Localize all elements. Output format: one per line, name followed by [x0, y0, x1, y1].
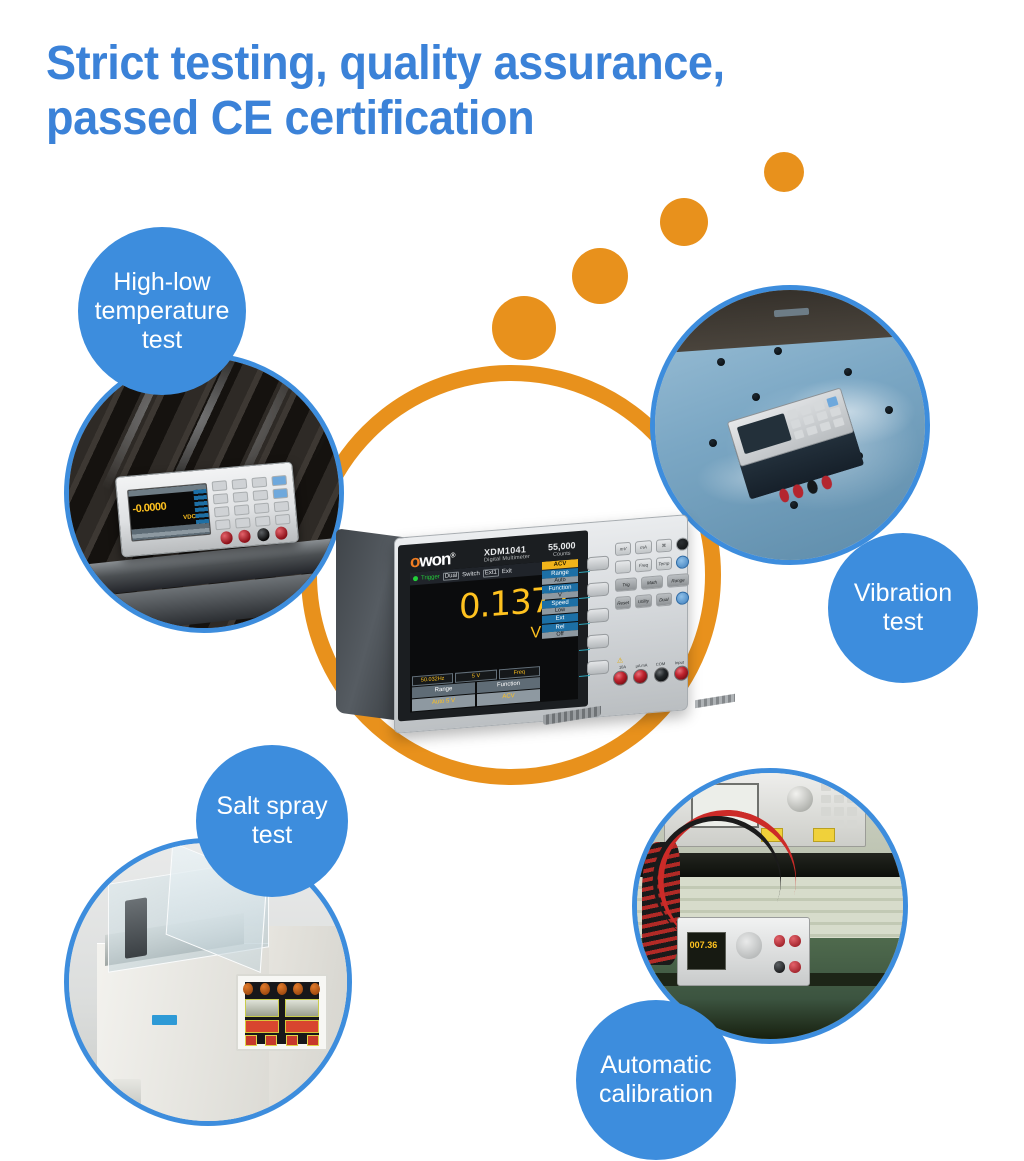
key-freq[interactable]: Freq [635, 558, 651, 572]
lcd-chip-switch[interactable]: Switch [462, 570, 480, 577]
device-keypad[interactable]: mV mA ⌘ Freq Temp Trig Math Range [615, 537, 689, 655]
model-name: XDM1041 Digital Multimeter [484, 544, 530, 564]
key-trig[interactable]: Trig [615, 577, 637, 592]
key-continuity[interactable]: ⌘ [656, 538, 672, 552]
display-bezel: oowonwon® XDM1041 Digital Multimeter 55,… [398, 530, 588, 721]
lcd-menu-rel[interactable]: Rel Off [542, 622, 578, 639]
key-mv[interactable]: mV [615, 542, 631, 556]
key-temp[interactable]: Temp [656, 556, 672, 570]
soft-key-1[interactable] [587, 556, 609, 572]
device-front-panel: oowonwon® XDM1041 Digital Multimeter 55,… [394, 514, 688, 734]
decor-dot-1 [764, 152, 804, 192]
calibration-device-under-test: 007.36 [677, 917, 810, 986]
badge-label: High-low temperature test [95, 268, 230, 355]
chassis-foot [695, 694, 735, 708]
trigger-indicator-dot [413, 576, 418, 581]
photo-vibration-table [650, 285, 930, 565]
key-ma[interactable]: mA [635, 540, 651, 554]
mini-lcd-unit: VDC [183, 513, 196, 520]
key-range[interactable]: Range [667, 573, 689, 588]
keypad-row-2: Freq Temp [615, 555, 689, 574]
jack-com[interactable] [654, 667, 669, 683]
product-multimeter-xdm1041: oowonwon® XDM1041 Digital Multimeter 55,… [336, 512, 688, 736]
badge-vibration-test[interactable]: Vibration test [828, 533, 978, 683]
counts-subtitle: Counts [548, 550, 576, 558]
lcd-menu-function[interactable]: Function V [542, 583, 578, 600]
key-math[interactable]: Math [641, 575, 663, 590]
lcd-menu-range[interactable]: Range Auto [542, 568, 578, 585]
soft-key-4[interactable] [587, 634, 609, 650]
soft-key-5[interactable] [587, 660, 609, 676]
keypad-row-1: mV mA ⌘ [615, 537, 689, 556]
registered-mark: ® [450, 552, 454, 559]
decor-dot-4 [492, 296, 556, 360]
badge-label: Automatic calibration [599, 1051, 713, 1109]
key-ac-dc[interactable] [615, 560, 631, 574]
jack-10a[interactable] [613, 670, 628, 686]
lcd-menu-speed[interactable]: Speed Low [542, 598, 578, 615]
trigger-label: Trigger [421, 574, 440, 582]
lcd-screen[interactable]: Trigger Dual Switch Ext1 Exit 0.1377 V A… [410, 559, 578, 713]
page-title: Strict testing, quality assurance, passe… [46, 36, 760, 146]
lcd-side-menu: ACV Range Auto Function V Speed Low [542, 559, 578, 702]
jack-ua-ma[interactable] [633, 668, 648, 684]
key-up-arrow[interactable] [676, 555, 689, 569]
lcd-chip-exit[interactable]: Exit [502, 568, 512, 575]
infographic-canvas: Strict testing, quality assurance, passe… [0, 0, 1024, 1161]
badge-automatic-calibration[interactable]: Automatic calibration [576, 1000, 736, 1160]
badge-high-low-temperature-test[interactable]: High-low temperature test [78, 227, 246, 395]
mini-keypad [211, 475, 290, 530]
badge-label: Vibration test [854, 579, 952, 637]
soft-key-column[interactable] [587, 556, 609, 688]
dut-lcd-reading: 007.36 [690, 940, 718, 950]
badge-label: Salt spray test [216, 792, 327, 850]
key-reset[interactable]: Reset [615, 596, 631, 610]
key-down-arrow[interactable] [676, 591, 689, 605]
decor-dot-3 [572, 248, 628, 304]
input-terminals: 10A µA mA COM Input [613, 659, 689, 686]
mini-multimeter-temp: -0.0000 VDC [114, 461, 299, 557]
counts-spec: 55,000 Counts [548, 540, 576, 558]
key-utility[interactable]: Utility [635, 594, 651, 608]
lcd-chip-dual[interactable]: Dual [443, 571, 459, 580]
badge-salt-spray-test[interactable]: Salt spray test [196, 745, 348, 897]
soft-key-2[interactable] [587, 582, 609, 598]
keypad-row-3: Trig Math Range [615, 573, 689, 592]
photo-temperature-chamber: -0.0000 VDC [64, 353, 344, 633]
lcd-chip-ext1[interactable]: Ext1 [483, 568, 499, 577]
key-dual[interactable]: Dual [656, 592, 672, 606]
mini-lcd-reading: -0.0000 [132, 498, 194, 515]
salt-spray-control-panel [236, 974, 328, 1052]
keypad-row-4: Reset Utility Dual [615, 591, 689, 610]
jack-input[interactable] [674, 665, 689, 681]
decor-dot-2 [660, 198, 708, 246]
soft-key-3[interactable] [587, 608, 609, 624]
power-button[interactable] [676, 537, 689, 551]
